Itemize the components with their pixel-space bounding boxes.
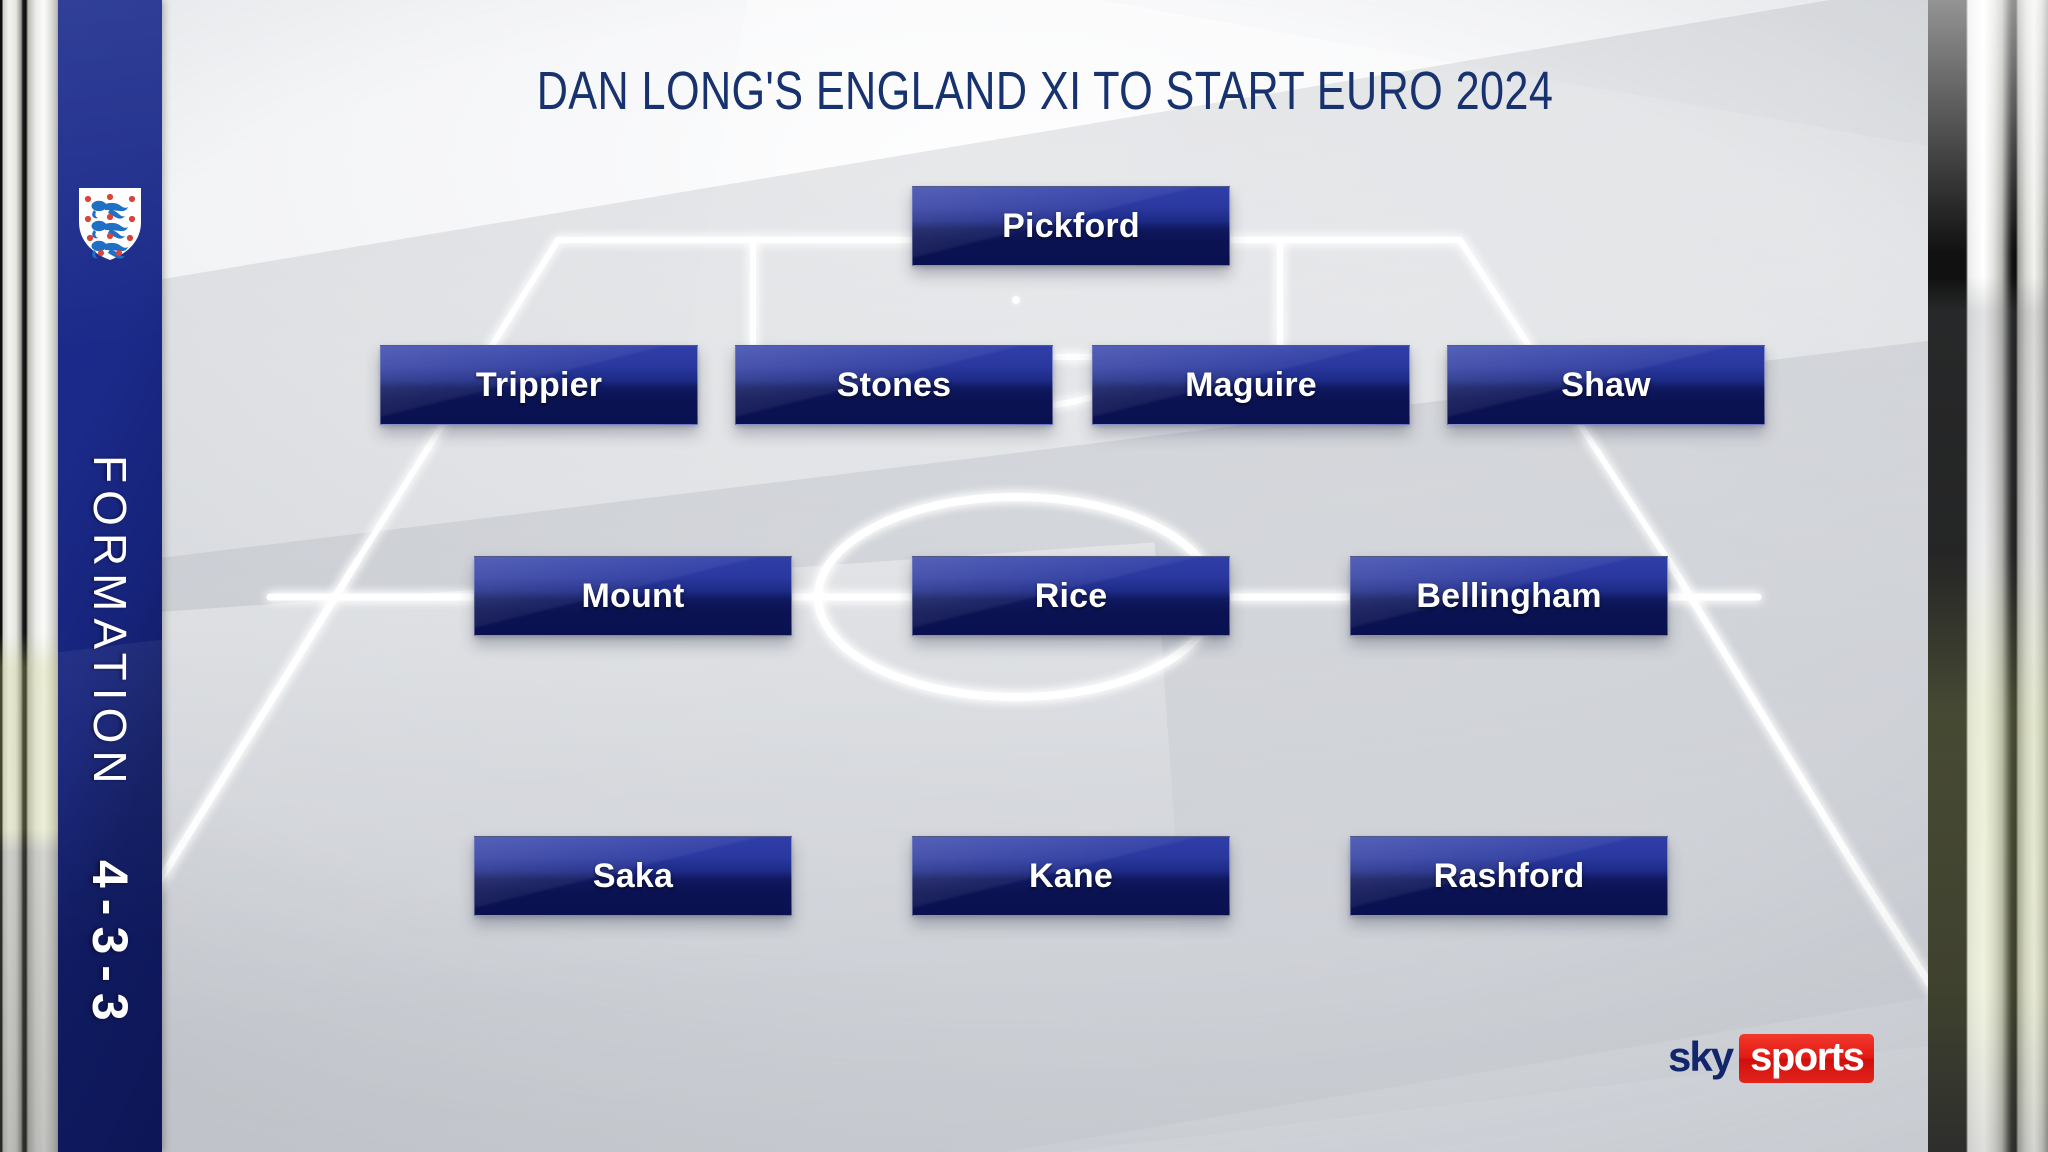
player-box-pickford[interactable]: Pickford xyxy=(912,186,1230,266)
player-box-stones[interactable]: Stones xyxy=(735,345,1053,425)
formation-label: FORMATION xyxy=(83,455,137,791)
player-box-rashford[interactable]: Rashford xyxy=(1350,836,1668,916)
player-box-shaw[interactable]: Shaw xyxy=(1447,345,1765,425)
england-three-lions-crest-icon xyxy=(77,186,143,262)
player-box-rice[interactable]: Rice xyxy=(912,556,1230,636)
player-name: Mount xyxy=(582,577,685,616)
player-box-maguire[interactable]: Maguire xyxy=(1092,345,1410,425)
player-name: Trippier xyxy=(476,366,602,405)
formation-label-text: FORMATION xyxy=(83,455,137,791)
player-name: Rashford xyxy=(1434,857,1585,896)
sky-sports-logo: sky sports xyxy=(1668,1034,1874,1083)
left-edge-tint xyxy=(0,0,58,1152)
player-name: Rice xyxy=(1035,577,1108,616)
sidebar-sheen-top xyxy=(58,0,162,356)
sports-badge: sports xyxy=(1739,1034,1874,1083)
player-name: Maguire xyxy=(1185,366,1317,405)
player-name: Stones xyxy=(837,366,952,405)
player-name: Saka xyxy=(593,857,673,896)
player-box-trippier[interactable]: Trippier xyxy=(380,345,698,425)
formation-sidebar: FORMATION 4-3-3 xyxy=(58,0,162,1152)
sports-wordmark: sports xyxy=(1750,1037,1863,1077)
formation-value-text: 4-3-3 xyxy=(81,860,139,1032)
sky-wordmark: sky xyxy=(1668,1036,1732,1081)
player-box-kane[interactable]: Kane xyxy=(912,836,1230,916)
page-title: DAN LONG'S ENGLAND XI TO START EURO 2024 xyxy=(339,60,1752,122)
player-name: Kane xyxy=(1029,857,1113,896)
player-box-bellingham[interactable]: Bellingham xyxy=(1350,556,1668,636)
right-edge-highlight xyxy=(1928,0,2048,1152)
graphic-canvas: FORMATION 4-3-3 DAN LONG'S ENGLAND XI TO… xyxy=(0,0,2048,1152)
player-name: Pickford xyxy=(1002,207,1140,246)
formation-value: 4-3-3 xyxy=(81,860,139,1032)
player-name: Bellingham xyxy=(1416,577,1601,616)
player-box-saka[interactable]: Saka xyxy=(474,836,792,916)
player-name: Shaw xyxy=(1561,366,1651,405)
player-box-mount[interactable]: Mount xyxy=(474,556,792,636)
